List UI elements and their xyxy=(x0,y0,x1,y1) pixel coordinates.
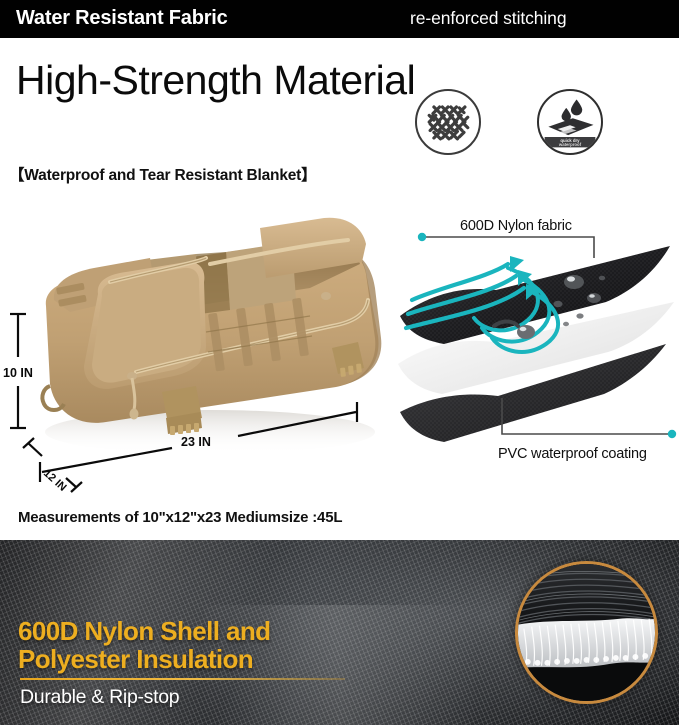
svg-text:waterproof: waterproof xyxy=(558,142,582,147)
fabric-layer-diagram: 600D Nylon fabric PVC waterproof coating xyxy=(398,216,679,466)
measurements-text: Measurements of 10"x12"x23 Mediumsize :4… xyxy=(18,509,342,526)
banner-title: 600D Nylon Shell and Polyester Insulatio… xyxy=(18,617,378,673)
dimension-callouts: 10 IN 12 IN 23 IN xyxy=(0,190,400,500)
page-title: High-Strength Material xyxy=(16,57,416,103)
feature-label-water-resistant: Water Resistant Fabric xyxy=(16,7,228,30)
waterproof-icon: quick dry waterproof xyxy=(537,89,603,155)
top-feature-bar: Water Resistant Fabric re-enforced stitc… xyxy=(0,0,679,38)
fiber-macro-photo xyxy=(515,561,658,704)
leader-dot-top xyxy=(418,233,426,241)
banner-subtitle: Durable & Rip-stop xyxy=(20,686,179,709)
layer-label-top: 600D Nylon fabric xyxy=(460,218,572,234)
woven-fabric-icon xyxy=(415,89,481,155)
dimension-height-label: 10 IN xyxy=(3,366,33,380)
page-subtitle: 【Waterproof and Tear Resistant Blanket】 xyxy=(9,163,316,185)
feature-label-stitching: re-enforced stitching xyxy=(410,8,566,29)
banner-divider xyxy=(20,678,345,680)
layer-label-bottom: PVC waterproof coating xyxy=(498,446,647,462)
dimension-width-label: 23 IN xyxy=(181,435,211,449)
leader-dot-bottom xyxy=(668,430,676,438)
